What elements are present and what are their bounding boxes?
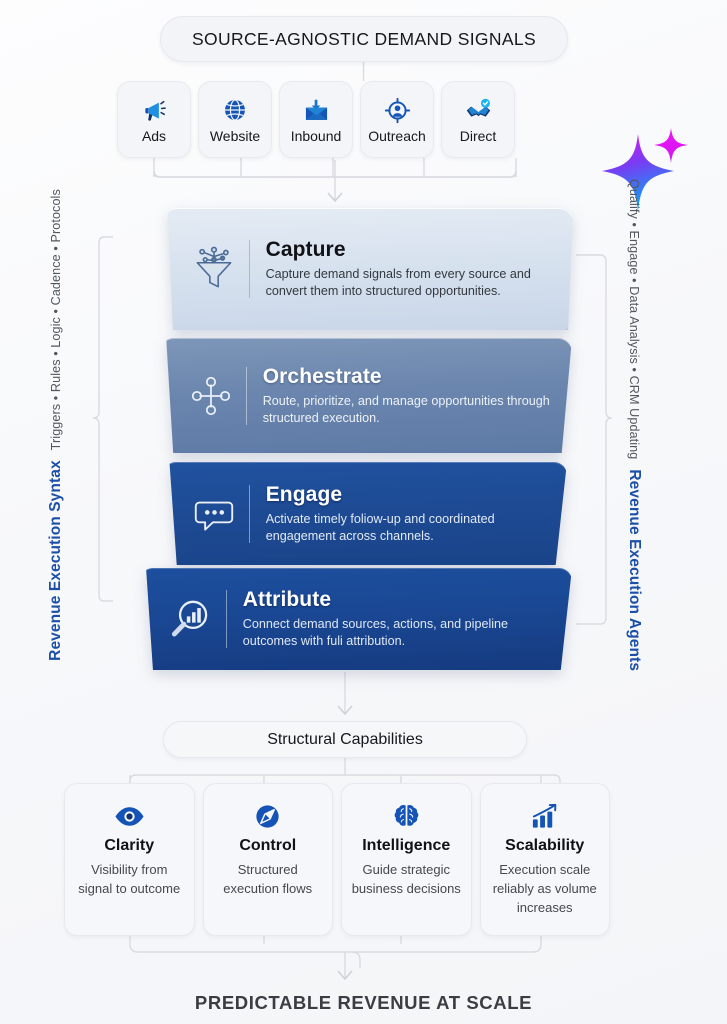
layer-divider: [226, 590, 227, 648]
diagram-canvas: SOURCE-AGNOSTIC DEMAND SIGNALS Ads: [0, 0, 727, 1024]
chat-bubble-icon: [185, 485, 243, 543]
capability-title: Scalability: [505, 837, 584, 855]
compass-icon: [252, 800, 283, 832]
layer-desc: Capture demand signals from every source…: [266, 266, 551, 299]
capability-title: Control: [239, 837, 296, 855]
funnel-layer-engage[interactable]: Engage Activate timely foliow-up and coo…: [163, 462, 567, 565]
capability-desc: Guide strategic business decisions: [350, 861, 463, 899]
capability-card-scalability[interactable]: Scalability Execution scale reliably as …: [480, 783, 611, 936]
capability-desc: Structured execution flows: [212, 861, 325, 899]
side-label-subtitle: Qualify • Engage • Data Analysis • CRM U…: [627, 179, 641, 459]
layer-desc: Route, prioritize, and manage opportunit…: [263, 393, 550, 426]
footer-title: PREDICTABLE REVENUE AT SCALE: [0, 992, 727, 1014]
capability-card-row: Clarity Visibility from signal to outcom…: [64, 783, 610, 936]
layer-text: Engage Activate timely foliow-up and coo…: [266, 483, 567, 544]
capability-card-clarity[interactable]: Clarity Visibility from signal to outcom…: [64, 783, 195, 936]
side-label-revenue-execution-syntax: Revenue Execution Syntax Triggers • Rule…: [47, 189, 65, 661]
pill-label: Structural Capabilities: [267, 731, 423, 749]
capability-card-control[interactable]: Control Structured execution flows: [203, 783, 334, 936]
layer-divider: [249, 240, 250, 298]
capability-title: Clarity: [104, 837, 154, 855]
brain-icon: [391, 800, 422, 832]
capability-desc: Visibility from signal to outcome: [73, 861, 186, 899]
layer-desc: Connect demand sources, actions, and pip…: [243, 616, 550, 649]
capability-card-intelligence[interactable]: Intelligence Guide strategic business de…: [341, 783, 472, 936]
funnel-layer-capture[interactable]: Capture Capture demand signals from ever…: [163, 208, 573, 330]
footer-label: PREDICTABLE REVENUE AT SCALE: [195, 992, 532, 1013]
layer-title: Attribute: [243, 588, 550, 612]
layer-text: Orchestrate Route, prioritize, and manag…: [263, 365, 572, 426]
magnifier-chart-icon: [162, 590, 220, 648]
funnel-layer-orchestrate[interactable]: Orchestrate Route, prioritize, and manag…: [160, 338, 572, 453]
layer-title: Engage: [266, 483, 545, 507]
eye-icon: [114, 800, 145, 832]
side-label-title: Revenue Execution Syntax: [47, 460, 65, 661]
side-label-revenue-execution-agents: Revenue Execution Agents Qualify • Engag…: [625, 179, 643, 671]
node-hub-icon: [182, 367, 240, 425]
layer-divider: [249, 485, 250, 543]
side-label-subtitle: Triggers • Rules • Logic • Cadence • Pro…: [49, 189, 63, 450]
structural-capabilities-pill: Structural Capabilities: [163, 721, 527, 758]
layer-divider: [246, 367, 247, 425]
layer-title: Capture: [266, 238, 551, 262]
capability-desc: Execution scale reliably as volume incre…: [489, 861, 602, 918]
layer-text: Attribute Connect demand sources, action…: [243, 588, 572, 649]
funnel-network-icon: [185, 240, 243, 298]
funnel-layer-attribute[interactable]: Attribute Connect demand sources, action…: [140, 568, 572, 670]
layer-desc: Activate timely foliow-up and coordinate…: [266, 511, 545, 544]
layer-title: Orchestrate: [263, 365, 550, 389]
layer-text: Capture Capture demand signals from ever…: [266, 238, 573, 299]
capability-title: Intelligence: [362, 837, 450, 855]
side-label-title: Revenue Execution Agents: [625, 469, 643, 671]
growth-chart-icon: [529, 800, 560, 832]
